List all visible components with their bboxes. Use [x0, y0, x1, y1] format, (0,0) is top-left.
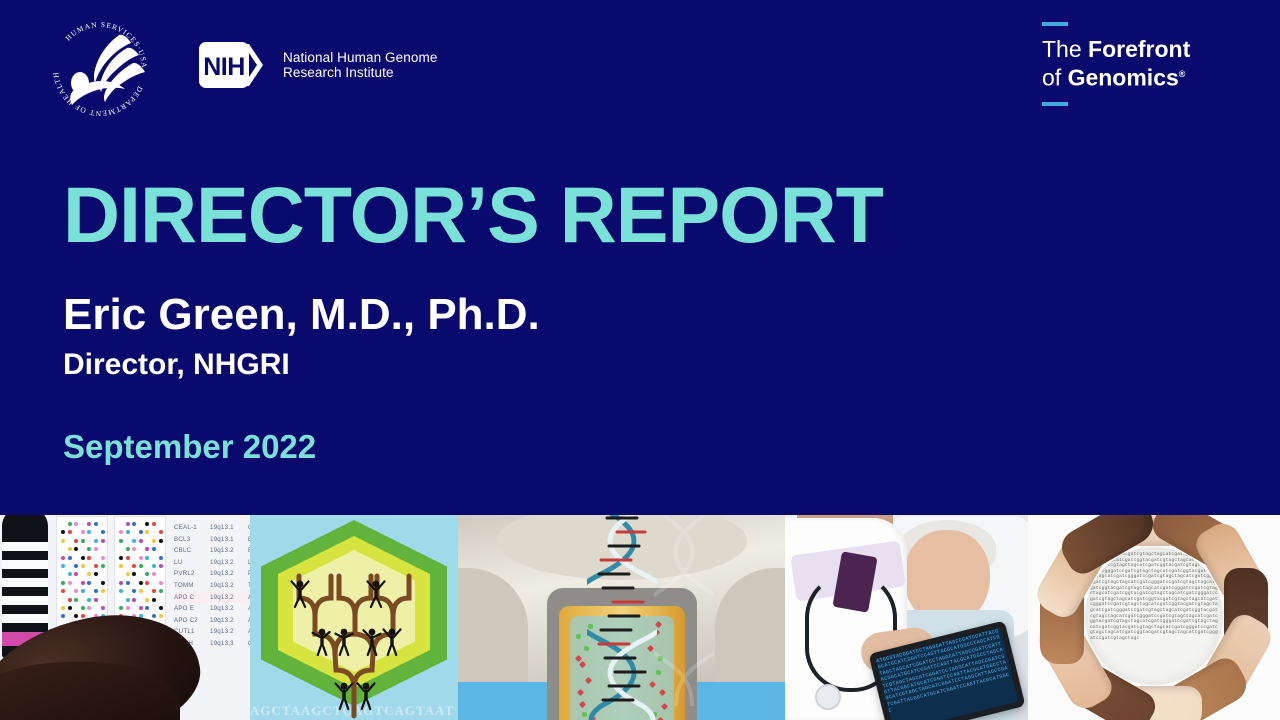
- gene-symbol: CEAL-1: [174, 522, 210, 534]
- microarray-spot: [159, 606, 163, 610]
- microarray-spot: [132, 598, 136, 602]
- microarray-spot: [139, 539, 143, 543]
- gene-symbol: CBLC: [174, 545, 210, 557]
- microarray-spot: [119, 606, 123, 610]
- microarray-spot: [61, 606, 65, 610]
- microarray-spot: [81, 530, 85, 534]
- gene-symbol: BCL3: [174, 534, 210, 546]
- microarray-spot: [139, 581, 143, 585]
- microarray-spot: [132, 522, 136, 526]
- nih-institute-name: National Human Genome Research Institute: [283, 50, 437, 81]
- gene-row: APO E19q13.2APOLIPOPRO: [174, 603, 250, 615]
- microarray-spot: [87, 522, 91, 526]
- microarray-spot: [94, 539, 98, 543]
- forefront-of: of: [1042, 65, 1068, 91]
- microarray-spot: [139, 564, 143, 568]
- microarray-spot: [139, 606, 143, 610]
- family-tree-icon: [250, 512, 458, 720]
- gene-row: LU19q13.2LUTHERAN BL: [174, 557, 250, 569]
- microarray-spot: [152, 598, 156, 602]
- ideogram-band: [2, 560, 48, 569]
- gene-row: APO C19q13.2APOLIPOPRO: [174, 592, 250, 604]
- gene-locus: 19q13.3: [210, 638, 248, 650]
- stethoscope-bell-icon: [815, 684, 841, 710]
- microarray-spot: [68, 572, 72, 576]
- microarray-spot: [139, 530, 143, 534]
- microarray-spot: [159, 556, 163, 560]
- microarray-spot: [61, 539, 65, 543]
- gene-locus: 19q13.2: [210, 592, 248, 604]
- molecule-marker-red: [578, 661, 585, 668]
- microarray-spot: [61, 530, 65, 534]
- forefront-dash-top-icon: [1042, 22, 1068, 26]
- forefront-line-1: The Forefront: [1042, 37, 1222, 62]
- nih-name-line1: National Human Genome: [283, 50, 437, 66]
- microarray-spot: [74, 547, 78, 551]
- microarray-spot: [159, 530, 163, 534]
- presenter-role: Director, NHGRI: [63, 347, 290, 383]
- presenter-name: Eric Green, M.D., Ph.D.: [63, 290, 540, 340]
- forefront-line-2: of Genomics®: [1042, 62, 1222, 91]
- dna-helix-icon: [587, 512, 657, 720]
- microarray-spot: [139, 589, 143, 593]
- microarray-spot: [74, 614, 78, 618]
- gene-row: CBLC19q13.2ECTOPIC CAS: [174, 545, 250, 557]
- microarray-spot: [126, 606, 130, 610]
- svg-text:NIH: NIH: [203, 53, 245, 81]
- gene-row: CEAL-119q13.1CARCINOEMBR: [174, 522, 250, 534]
- microarray-spot: [68, 581, 72, 585]
- microarray-spot: [81, 606, 85, 610]
- microarray-spot: [126, 522, 130, 526]
- gene-locus: 19q13.2: [210, 580, 248, 592]
- microarray-spot: [94, 598, 98, 602]
- gene-locus: 19q13.1: [210, 534, 248, 546]
- molecule-marker-green: [576, 634, 581, 639]
- ideogram-band: [2, 578, 48, 587]
- microarray-spot: [119, 539, 123, 543]
- microarray-spot: [126, 547, 130, 551]
- ideogram-band: [2, 596, 48, 605]
- microarray-spot: [61, 564, 65, 568]
- gene-row: APO C219q13.2APOLIPOPRO: [174, 615, 250, 627]
- microarray-spot: [94, 564, 98, 568]
- microarray-spot: [68, 522, 72, 526]
- microarray-spot: [159, 564, 163, 568]
- hhs-seal-icon: HUMAN SERVICES·USA DEPARTMENT OF HEALTH …: [45, 13, 155, 121]
- microarray-spot: [68, 606, 72, 610]
- panel-family-tree-pedigree: AGCTAAGCTCAGTCAGTAAT GGCTAAGCTCAGTCAGT: [250, 512, 458, 720]
- gene-symbol: TOMM: [174, 580, 210, 592]
- gene-symbol: LU: [174, 557, 210, 569]
- microarray-spot: [152, 547, 156, 551]
- molecule-marker-red: [578, 701, 585, 708]
- microarray-spot: [145, 598, 149, 602]
- microarray-spot: [87, 598, 91, 602]
- gene-table: CEAL-119q13.1CARCINOEMBRBCL319q13.1B-CEL…: [174, 522, 250, 650]
- gene-locus: 19q13.2: [210, 557, 248, 569]
- microarray-spot: [87, 572, 91, 576]
- microarray-spot: [74, 539, 78, 543]
- gene-symbol: APO C: [174, 592, 210, 604]
- gene-symbol: APO E: [174, 603, 210, 615]
- microarray-spot: [61, 556, 65, 560]
- microarray-spot: [81, 539, 85, 543]
- forefront-of-genomics-logo: The Forefront of Genomics®: [1042, 22, 1222, 106]
- microarray-spot: [145, 556, 149, 560]
- ideogram-band: [2, 542, 48, 551]
- gene-locus: 19q13.1: [210, 522, 248, 534]
- microarray-spot: [61, 589, 65, 593]
- microarray-spot: [145, 572, 149, 576]
- microarray-spot: [132, 547, 136, 551]
- registered-trademark-icon: ®: [1179, 69, 1186, 79]
- microarray-spot: [159, 539, 163, 543]
- nih-name-line2: Research Institute: [283, 65, 437, 81]
- microarray-spot: [152, 572, 156, 576]
- microarray-spot: [68, 547, 72, 551]
- dna-sequence-globe: gatcgatcggtacgatcgtagctagcatcgatcgggatcc…: [1085, 547, 1223, 685]
- microarray-spot: [119, 581, 123, 585]
- molecule-marker-red: [574, 655, 581, 662]
- panel-dna-sequencer-render: [458, 512, 785, 720]
- microarray-spot: [68, 598, 72, 602]
- microarray-spot: [159, 589, 163, 593]
- forefront-genomics: Genomics: [1068, 65, 1179, 91]
- microarray-spot: [81, 564, 85, 568]
- microarray-spot: [126, 581, 130, 585]
- microarray-spot: [87, 606, 91, 610]
- presentation-date: September 2022: [63, 428, 316, 466]
- microarray-spot: [68, 530, 72, 534]
- microarray-spot: [87, 547, 91, 551]
- page-title: DIRECTOR’S REPORT: [63, 173, 883, 257]
- microarray-spot: [132, 572, 136, 576]
- microarray-spot: [126, 530, 130, 534]
- gene-row: TOMM19q13.2TRANSLOCAS: [174, 580, 250, 592]
- microarray-spot: [152, 614, 156, 618]
- microarray-spot: [94, 547, 98, 551]
- microarray-spot: [119, 556, 123, 560]
- gene-locus: 19q13.2: [210, 603, 248, 615]
- microarray-spot: [152, 522, 156, 526]
- microarray-spot: [126, 556, 130, 560]
- microarray-spot: [101, 581, 105, 585]
- gene-locus: 19q13.2: [210, 626, 248, 638]
- gene-symbol: APO C2: [174, 615, 210, 627]
- image-strip: CEAL-119q13.1CARCINOEMBRBCL319q13.1B-CEL…: [0, 512, 1280, 720]
- microarray-spot: [61, 614, 65, 618]
- microarray-spot: [145, 547, 149, 551]
- nih-mark-icon: NIH: [199, 42, 271, 88]
- microarray-spot: [81, 589, 85, 593]
- microarray-spot: [119, 589, 123, 593]
- microarray-spot: [152, 589, 156, 593]
- gene-locus: 19q13.2: [210, 615, 248, 627]
- microarray-spot: [94, 572, 98, 576]
- microarray-spot: [68, 556, 72, 560]
- microarray-spot: [74, 598, 78, 602]
- microarray-spot: [74, 522, 78, 526]
- nih-logo: NIH National Human Genome Research Insti…: [199, 42, 437, 88]
- microarray-spot: [101, 606, 105, 610]
- microarray-spot: [152, 539, 156, 543]
- panel-diverse-hands-dna-globe: gatcgatcggtacgatcgtagctagcatcgatcgggatcc…: [1028, 512, 1280, 720]
- gene-row: BCL319q13.1B-CELL LYMPH: [174, 534, 250, 546]
- microarray-spot: [74, 589, 78, 593]
- microarray-spot: [145, 522, 149, 526]
- microarray-spot: [94, 589, 98, 593]
- ideogram-band: [2, 614, 48, 623]
- microarray-spot: [74, 564, 78, 568]
- gene-locus: 19q13.2: [210, 545, 248, 557]
- microarray-spot: [119, 564, 123, 568]
- microarray-spot: [119, 530, 123, 534]
- microarray-spot: [101, 539, 105, 543]
- microarray-spot: [132, 564, 136, 568]
- microarray-spot: [94, 522, 98, 526]
- microarray-spot: [74, 572, 78, 576]
- microarray-spot: [61, 581, 65, 585]
- microarray-spot: [81, 581, 85, 585]
- microarray-spot: [101, 530, 105, 534]
- gene-locus: 19q13.2: [210, 568, 248, 580]
- gene-symbol: PVRL2: [174, 568, 210, 580]
- microarray-spot: [152, 564, 156, 568]
- microarray-spot: [87, 581, 91, 585]
- gene-row: PVRL219q13.2POLIOVIRUS: [174, 568, 250, 580]
- panel-doctor-and-patient: ATGCGTACGGATCCTAGGCATTAGCCGATCGATTACGGCA…: [785, 512, 1028, 720]
- microarray-spot: [145, 530, 149, 534]
- forefront-forefront: Forefront: [1088, 36, 1190, 62]
- microarray-spot: [159, 581, 163, 585]
- microarray-spot: [81, 556, 85, 560]
- strip-divider: [0, 512, 1280, 515]
- microarray-spot: [132, 589, 136, 593]
- microarray-spot: [101, 589, 105, 593]
- microarray-spot: [87, 556, 91, 560]
- microarray-spot: [101, 556, 105, 560]
- microarray-spot: [126, 598, 130, 602]
- dna-helix-ghost-icon: [654, 516, 714, 706]
- microarray-spot: [132, 539, 136, 543]
- gene-row: CUTL119q13.2APOLIPOPRO: [174, 626, 250, 638]
- microarray-spot: [159, 614, 163, 618]
- microarray-spot: [145, 606, 149, 610]
- microarray-spot: [139, 556, 143, 560]
- microarray-spot: [145, 581, 149, 585]
- forefront-the: The: [1042, 36, 1088, 62]
- forefront-dash-bottom-icon: [1042, 102, 1068, 106]
- microarray-spot: [87, 530, 91, 534]
- microarray-spot: [126, 572, 130, 576]
- microarray-spot: [101, 564, 105, 568]
- title-slide: HUMAN SERVICES·USA DEPARTMENT OF HEALTH …: [0, 0, 1280, 720]
- molecule-marker-red: [576, 689, 583, 696]
- panel-genome-map-screen: CEAL-119q13.1CARCINOEMBRBCL319q13.1B-CEL…: [0, 512, 250, 720]
